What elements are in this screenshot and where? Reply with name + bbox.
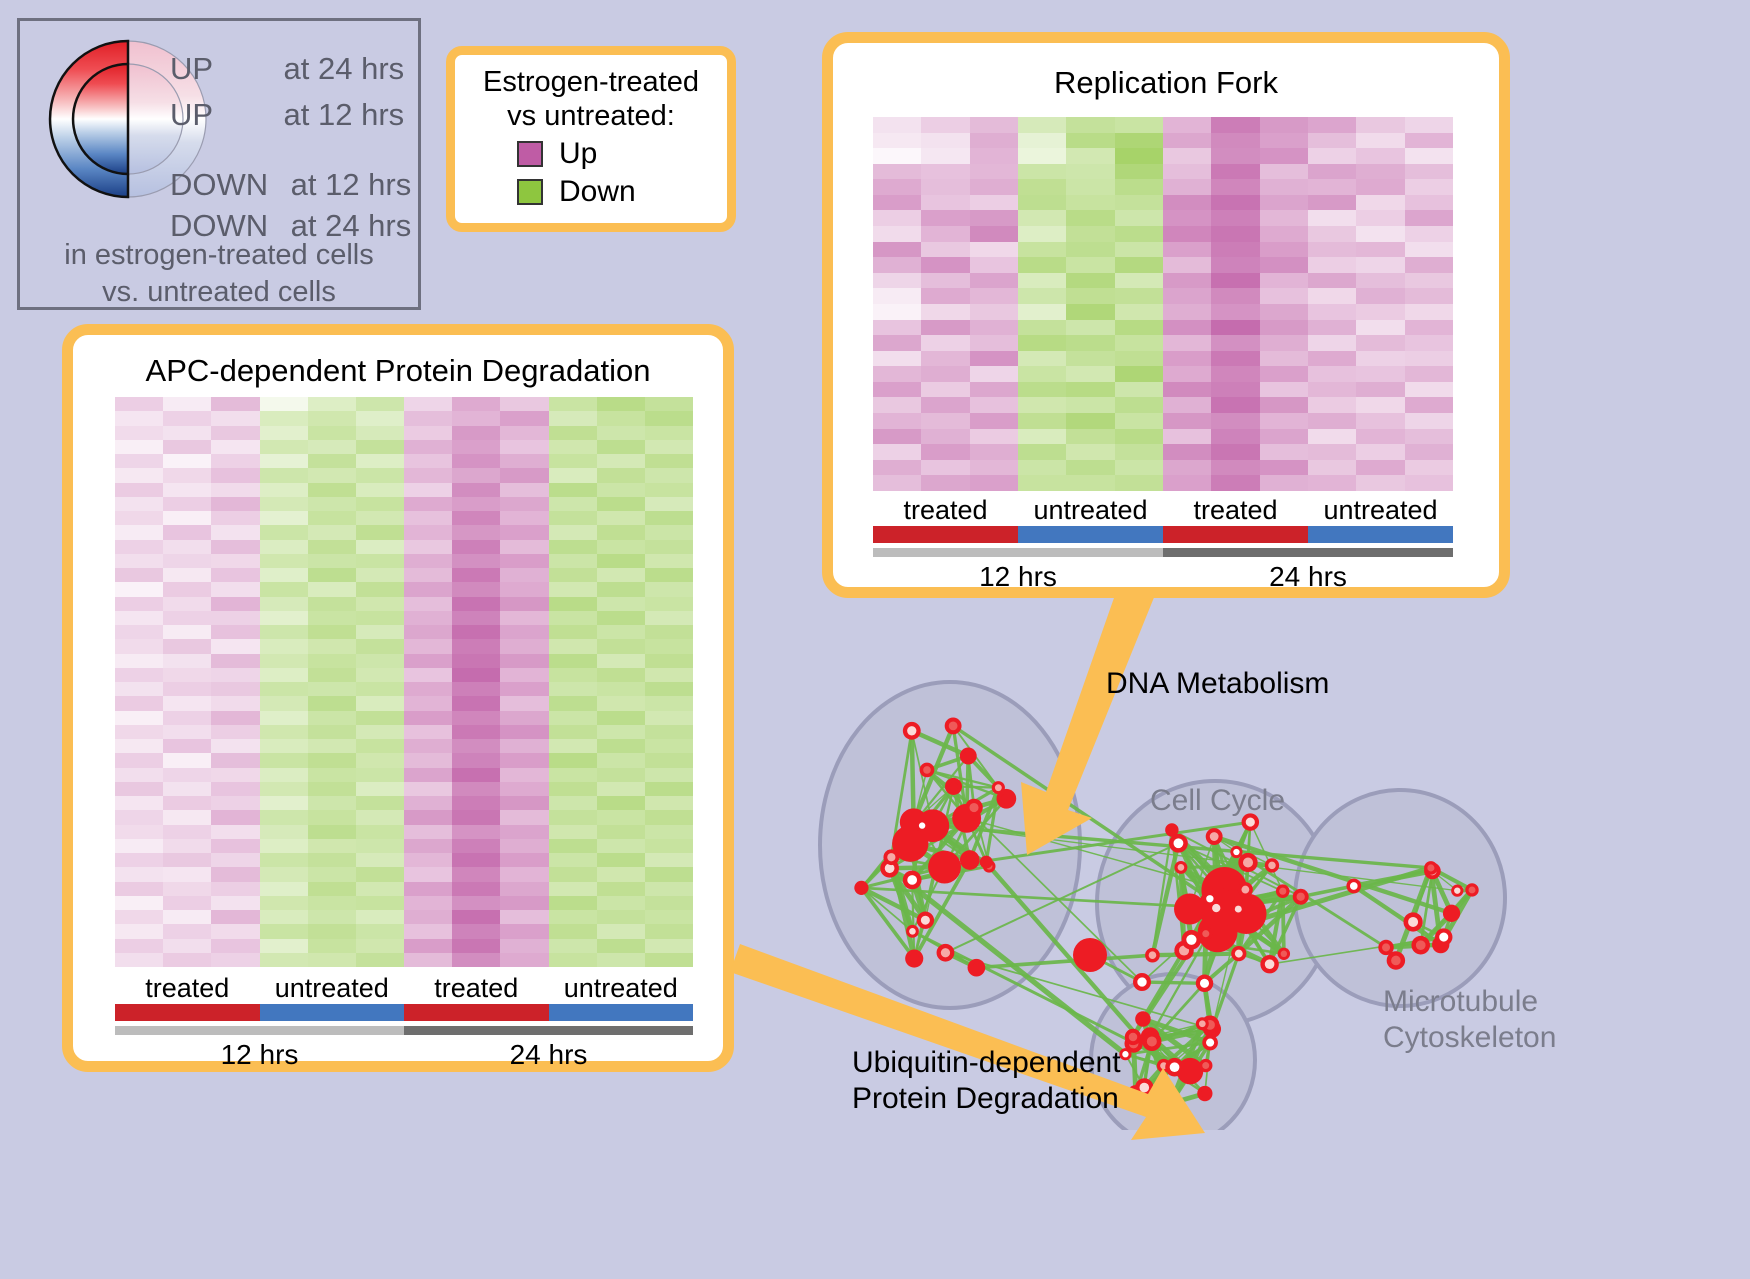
heatmap-cell	[308, 654, 356, 668]
heatmap-cell	[1405, 397, 1453, 413]
network-node[interactable]	[1346, 879, 1361, 894]
network-node[interactable]	[996, 789, 1016, 809]
heatmap-cell	[645, 753, 693, 767]
heatmap-cell	[1356, 475, 1404, 491]
network-node[interactable]	[980, 856, 993, 869]
heatmap-cell	[308, 625, 356, 639]
heatmap-cell	[211, 910, 259, 924]
node-inner-circle	[1454, 887, 1460, 893]
node-inner-circle	[1235, 906, 1242, 913]
network-node[interactable]	[1278, 948, 1290, 960]
heatmap-cell	[873, 210, 921, 226]
heatmap-cell	[549, 468, 597, 482]
network-node[interactable]	[1451, 885, 1463, 897]
heatmap-cell	[1018, 179, 1066, 195]
heatmap-cell	[211, 810, 259, 824]
heatmap-cell	[1066, 288, 1114, 304]
cluster-label-ubiquitin-dependent-protein-degradation: Ubiquitin-dependent Protein Degradation	[852, 1045, 1121, 1117]
heatmap-cell	[1356, 444, 1404, 460]
heatmap-cell	[549, 397, 597, 411]
heatmap-cell	[645, 939, 693, 953]
heatmap-cell	[452, 810, 500, 824]
network-node[interactable]	[937, 944, 955, 962]
heatmap-cell	[1018, 273, 1066, 289]
heatmap-cell	[645, 882, 693, 896]
heatmap-cell	[1163, 304, 1211, 320]
network-node[interactable]	[1142, 1032, 1161, 1051]
network-node[interactable]	[1135, 1078, 1154, 1097]
heatmap-cell	[1066, 304, 1114, 320]
heatmap-cell	[500, 611, 548, 625]
network-node[interactable]	[906, 925, 919, 938]
network-node[interactable]	[903, 722, 921, 740]
heatmap-cell	[1115, 195, 1163, 211]
node-inner-circle	[887, 853, 895, 861]
node-inner-circle	[1149, 951, 1157, 959]
network-node[interactable]	[1196, 975, 1213, 992]
heatmap-cell	[970, 304, 1018, 320]
network-node[interactable]	[1424, 861, 1438, 875]
heatmap-cell	[163, 611, 211, 625]
node-inner-circle	[949, 782, 958, 791]
heatmap-cell	[1115, 242, 1163, 258]
network-node[interactable]	[1206, 828, 1223, 845]
network-node[interactable]	[1411, 936, 1430, 955]
heatmap-cell	[308, 825, 356, 839]
heatmap-cell	[211, 668, 259, 682]
node-inner-circle	[1439, 933, 1448, 942]
network-node[interactable]	[1232, 902, 1245, 915]
heatmap-cell	[1308, 413, 1356, 429]
heatmap-cell	[163, 782, 211, 796]
heatmap-cell	[308, 639, 356, 653]
heatmap-cell	[597, 525, 645, 539]
heatmap-cell	[1115, 397, 1163, 413]
heatmap-cell	[500, 568, 548, 582]
heatmap-cell	[1405, 429, 1453, 445]
timepoint-bar-12hrs	[873, 548, 1163, 557]
node-inner-circle	[1210, 832, 1219, 841]
network-node[interactable]	[1435, 928, 1452, 945]
heatmap-cell	[970, 148, 1018, 164]
heatmap-cell	[308, 540, 356, 554]
heatmap-cell	[597, 782, 645, 796]
heatmap-cell	[597, 768, 645, 782]
node-inner-circle	[1265, 959, 1275, 969]
timepoint-colour-bar	[873, 548, 1453, 557]
network-node[interactable]	[1073, 938, 1107, 972]
heatmap-cell	[163, 483, 211, 497]
heatmap-cell	[1405, 242, 1453, 258]
heatmap-cell	[1260, 475, 1308, 491]
condition-label: treated	[115, 973, 260, 1004]
heatmap-cell	[308, 867, 356, 881]
heatmap-cell	[500, 939, 548, 953]
network-node[interactable]	[1165, 1058, 1184, 1077]
heatmap-cell	[163, 711, 211, 725]
heatmap-cell	[356, 711, 404, 725]
network-node[interactable]	[1276, 884, 1290, 898]
heatmap-cell	[1211, 366, 1259, 382]
heatmap-cell	[1115, 210, 1163, 226]
network-node[interactable]	[1145, 948, 1160, 963]
panel-title: APC-dependent Protein Degradation	[73, 353, 723, 389]
heatmap-cell	[500, 397, 548, 411]
heatmap-cell	[308, 568, 356, 582]
heatmap-cell	[597, 839, 645, 853]
heatmap-cell	[1211, 164, 1259, 180]
condition-bar-untreated	[1308, 526, 1453, 543]
network-node[interactable]	[1293, 889, 1309, 905]
network-node[interactable]	[1165, 1097, 1177, 1109]
heatmap-cell	[597, 725, 645, 739]
heatmap-cell	[597, 810, 645, 824]
heatmap-cell	[260, 682, 308, 696]
heatmap-cell	[873, 351, 921, 367]
network-node[interactable]	[960, 748, 977, 765]
heatmap-cell	[452, 739, 500, 753]
heatmap-cell	[970, 257, 1018, 273]
heatmap-cell	[645, 411, 693, 425]
network-node[interactable]	[945, 717, 962, 734]
heatmap-cell	[1356, 460, 1404, 476]
heatmap-cell	[404, 853, 452, 867]
heatmap-cell	[1260, 320, 1308, 336]
heatmap-cell	[921, 273, 969, 289]
heatmap-cell	[1066, 210, 1114, 226]
network-node[interactable]	[945, 778, 962, 795]
heatmap-cell	[308, 810, 356, 824]
node-inner-circle	[1350, 882, 1358, 890]
heatmap-cell	[1211, 195, 1259, 211]
network-node[interactable]	[1197, 1086, 1212, 1101]
heatmap-cell	[115, 540, 163, 554]
heatmap-cell	[356, 953, 404, 967]
heatmap-cell	[1405, 257, 1453, 273]
heatmap-cell	[308, 924, 356, 938]
network-node[interactable]	[1182, 930, 1202, 950]
heatmap-cell	[115, 696, 163, 710]
heatmap-cell	[645, 426, 693, 440]
heatmap-cell	[1115, 273, 1163, 289]
heatmap-cell	[1308, 242, 1356, 258]
heatmap-cell	[1163, 413, 1211, 429]
heatmap-cell	[645, 782, 693, 796]
heatmap-cell	[404, 711, 452, 725]
node-inner-circle	[1199, 1020, 1206, 1027]
network-node[interactable]	[883, 849, 899, 865]
heatmap-cell	[645, 582, 693, 596]
legend-title: Estrogen-treated vs untreated:	[455, 55, 727, 133]
condition-labels: treated untreated treated untreated	[873, 495, 1453, 526]
heatmap-cell	[1260, 304, 1308, 320]
heatmap-cell	[356, 440, 404, 454]
heatmap-cell	[452, 582, 500, 596]
heatmap-cell	[211, 711, 259, 725]
heatmap-cell	[1405, 444, 1453, 460]
node-inner-circle	[964, 752, 973, 761]
heatmap-cell	[260, 896, 308, 910]
heatmap-cell	[645, 511, 693, 525]
network-node[interactable]	[1265, 858, 1279, 872]
heatmap-cell	[1308, 117, 1356, 133]
node-inner-circle	[1206, 1039, 1214, 1047]
network-node[interactable]	[854, 881, 868, 895]
heatmap-cell	[115, 753, 163, 767]
heatmap-cell	[1018, 320, 1066, 336]
heatmap-cell	[211, 696, 259, 710]
heatmap-cell	[115, 796, 163, 810]
heatmap-cell	[308, 839, 356, 853]
heatmap-cell	[356, 639, 404, 653]
network-node[interactable]	[968, 959, 986, 977]
heatmap-cell	[645, 839, 693, 853]
heatmap-cell	[597, 654, 645, 668]
heatmap-cell	[115, 397, 163, 411]
heatmap-cell	[970, 320, 1018, 336]
heatmap-cell	[645, 397, 693, 411]
heatmap-cell	[1356, 117, 1404, 133]
network-node[interactable]	[1119, 1048, 1131, 1060]
heatmap-cell	[645, 454, 693, 468]
heatmap-cell	[549, 910, 597, 924]
heatmap-cell	[1405, 475, 1453, 491]
heatmap-cell	[1018, 210, 1066, 226]
heatmap-cell	[211, 654, 259, 668]
heatmap-cell	[549, 540, 597, 554]
heatmap-cell	[260, 825, 308, 839]
network-node[interactable]	[1196, 1017, 1209, 1030]
heatmap-cell	[404, 825, 452, 839]
heatmap-cell	[1211, 335, 1259, 351]
network-node[interactable]	[903, 871, 922, 890]
heatmap-cell	[1356, 351, 1404, 367]
heatmap-cell	[1211, 413, 1259, 429]
network-node[interactable]	[1135, 1011, 1151, 1027]
heatmap-cell	[452, 511, 500, 525]
heatmap-cell	[597, 939, 645, 953]
heatmap-cell	[1211, 397, 1259, 413]
network-node[interactable]	[1169, 834, 1188, 853]
heatmap-cell	[500, 739, 548, 753]
heatmap-cell	[645, 525, 693, 539]
heatmap-cell	[260, 839, 308, 853]
network-node[interactable]	[1378, 940, 1393, 955]
heatmap-cell	[549, 882, 597, 896]
legend-title-line1: Estrogen-treated	[455, 65, 727, 99]
network-node[interactable]	[1231, 946, 1246, 961]
heatmap-cell	[404, 483, 452, 497]
heatmap-cell	[452, 554, 500, 568]
heatmap-cell	[645, 625, 693, 639]
heatmap-cell	[1405, 226, 1453, 242]
heatmap-cell	[1163, 475, 1211, 491]
network-node[interactable]	[960, 850, 980, 870]
heatmap-cell	[452, 711, 500, 725]
heatmap-cell	[549, 440, 597, 454]
heatmap-cell	[404, 867, 452, 881]
heatmap-cell	[1308, 164, 1356, 180]
heatmap-cell	[308, 682, 356, 696]
heatmap-cell	[1356, 242, 1404, 258]
heatmap-cell	[549, 953, 597, 967]
heatmap-cell	[163, 497, 211, 511]
node-inner-circle	[969, 803, 978, 812]
heatmap-cell	[1260, 288, 1308, 304]
heatmap-cell	[1260, 148, 1308, 164]
node-inner-circle	[907, 726, 916, 735]
heatmap-cell	[356, 768, 404, 782]
heatmap-cell	[1018, 304, 1066, 320]
heatmap-cell	[452, 696, 500, 710]
heatmap-cell	[356, 882, 404, 896]
heatmap-cell	[873, 429, 921, 445]
heatmap-cell	[597, 397, 645, 411]
heatmap-cell	[970, 133, 1018, 149]
network-node[interactable]	[1202, 1035, 1218, 1051]
heatmap-cell	[308, 782, 356, 796]
node-inner-circle	[1168, 826, 1175, 833]
condition-label: untreated	[1018, 495, 1163, 526]
heatmap-cell	[970, 273, 1018, 289]
heatmap-cell	[1260, 429, 1308, 445]
heatmap-cell	[1018, 117, 1066, 133]
heatmap-cell	[921, 226, 969, 242]
heatmap-cell	[921, 195, 969, 211]
node-inner-circle	[1001, 794, 1011, 804]
heatmap-cell	[308, 468, 356, 482]
heatmap-cell	[1066, 117, 1114, 133]
panel-replication-fork: Replication Fork treated untreated treat…	[822, 32, 1510, 598]
heatmap-cell	[1260, 413, 1308, 429]
network-node[interactable]	[1443, 905, 1460, 922]
heatmap-cell	[921, 366, 969, 382]
heatmap-cell	[597, 554, 645, 568]
heatmap-cell	[260, 582, 308, 596]
cluster-label-dna-metabolism: DNA Metabolism	[1106, 666, 1329, 702]
panel-title: Replication Fork	[833, 65, 1499, 101]
heatmap-cell	[163, 582, 211, 596]
heatmap-cell	[500, 440, 548, 454]
heatmap-cell	[163, 853, 211, 867]
network-node[interactable]	[1238, 882, 1253, 897]
heatmap-cell	[115, 739, 163, 753]
network-node[interactable]	[920, 763, 935, 778]
heatmap-cell	[356, 739, 404, 753]
figure-root: UP at 24 hrs UP at 12 hrs DOWN at 12 hrs…	[0, 0, 1750, 1279]
node-inner-circle	[1129, 1033, 1138, 1042]
heatmap-cell	[115, 768, 163, 782]
heatmap-cell	[115, 711, 163, 725]
heatmap-cell	[211, 639, 259, 653]
heatmap-cell	[308, 882, 356, 896]
heatmap-cell	[308, 411, 356, 425]
heatmap-cell	[1308, 210, 1356, 226]
heatmap-cell	[356, 554, 404, 568]
heatmap-cell	[1066, 242, 1114, 258]
network-node[interactable]	[1133, 973, 1151, 991]
cluster-label-line2: Cytoskeleton	[1383, 1020, 1556, 1056]
heatmap-cell	[1356, 257, 1404, 273]
heatmap-cell	[597, 682, 645, 696]
heatmap-cell	[452, 426, 500, 440]
condition-bar-treated	[404, 1004, 549, 1021]
heatmap-cell	[549, 711, 597, 725]
heatmap-cell	[970, 335, 1018, 351]
network-node[interactable]	[928, 851, 961, 884]
network-node[interactable]	[905, 949, 923, 967]
heatmap-cell	[1260, 179, 1308, 195]
network-edge	[1152, 954, 1238, 956]
network-node[interactable]	[1260, 955, 1278, 973]
heatmap-cell	[500, 426, 548, 440]
heatmap-cell	[452, 725, 500, 739]
heatmap-cell	[452, 825, 500, 839]
heatmap-cell	[873, 242, 921, 258]
heatmap-cell	[163, 867, 211, 881]
heatmap-cell	[549, 896, 597, 910]
network-node[interactable]	[1465, 883, 1478, 896]
network-node[interactable]	[1125, 1029, 1141, 1045]
heatmap-cell	[211, 426, 259, 440]
heatmap-cell	[452, 782, 500, 796]
heatmap-cell	[500, 497, 548, 511]
heatmap-cell	[163, 426, 211, 440]
heatmap-cell	[1211, 257, 1259, 273]
heatmap-cell	[404, 597, 452, 611]
heatmap-cell	[452, 882, 500, 896]
heatmap-cell	[308, 896, 356, 910]
heatmap-cell	[1163, 351, 1211, 367]
heatmap-cell	[921, 382, 969, 398]
heatmap-cell	[163, 825, 211, 839]
heatmap-cell	[645, 711, 693, 725]
heatmap-cell	[452, 654, 500, 668]
heatmap-cell	[308, 454, 356, 468]
network-node[interactable]	[1238, 853, 1257, 872]
heatmap-cell	[452, 525, 500, 539]
heatmap-cell	[549, 554, 597, 568]
network-node[interactable]	[1174, 861, 1187, 874]
network-node[interactable]	[1199, 1059, 1212, 1072]
heatmap-cell	[1115, 382, 1163, 398]
heatmap-cell	[1211, 444, 1259, 460]
heatmap-cell	[404, 696, 452, 710]
network-node[interactable]	[1203, 892, 1217, 906]
heatmap-cell	[645, 639, 693, 653]
node-inner-circle	[1168, 1100, 1174, 1106]
heatmap-cell	[115, 568, 163, 582]
network-node[interactable]	[917, 912, 934, 929]
node-inner-circle	[1147, 1036, 1157, 1046]
network-node[interactable]	[965, 799, 983, 817]
heatmap-cell	[1405, 273, 1453, 289]
heatmap-cell	[115, 910, 163, 924]
heatmap-cell	[597, 568, 645, 582]
heatmap-cell	[873, 133, 921, 149]
heatmap-cell	[1260, 257, 1308, 273]
network-node[interactable]	[916, 819, 928, 831]
heatmap-cell	[163, 554, 211, 568]
heatmap-cell	[211, 397, 259, 411]
node-inner-circle	[949, 722, 958, 731]
heatmap-cell	[260, 525, 308, 539]
network-edge	[1142, 982, 1205, 983]
heatmap-cell	[1163, 133, 1211, 149]
heatmap-cell	[211, 554, 259, 568]
network-node[interactable]	[1403, 912, 1422, 931]
heatmap-cell	[921, 117, 969, 133]
